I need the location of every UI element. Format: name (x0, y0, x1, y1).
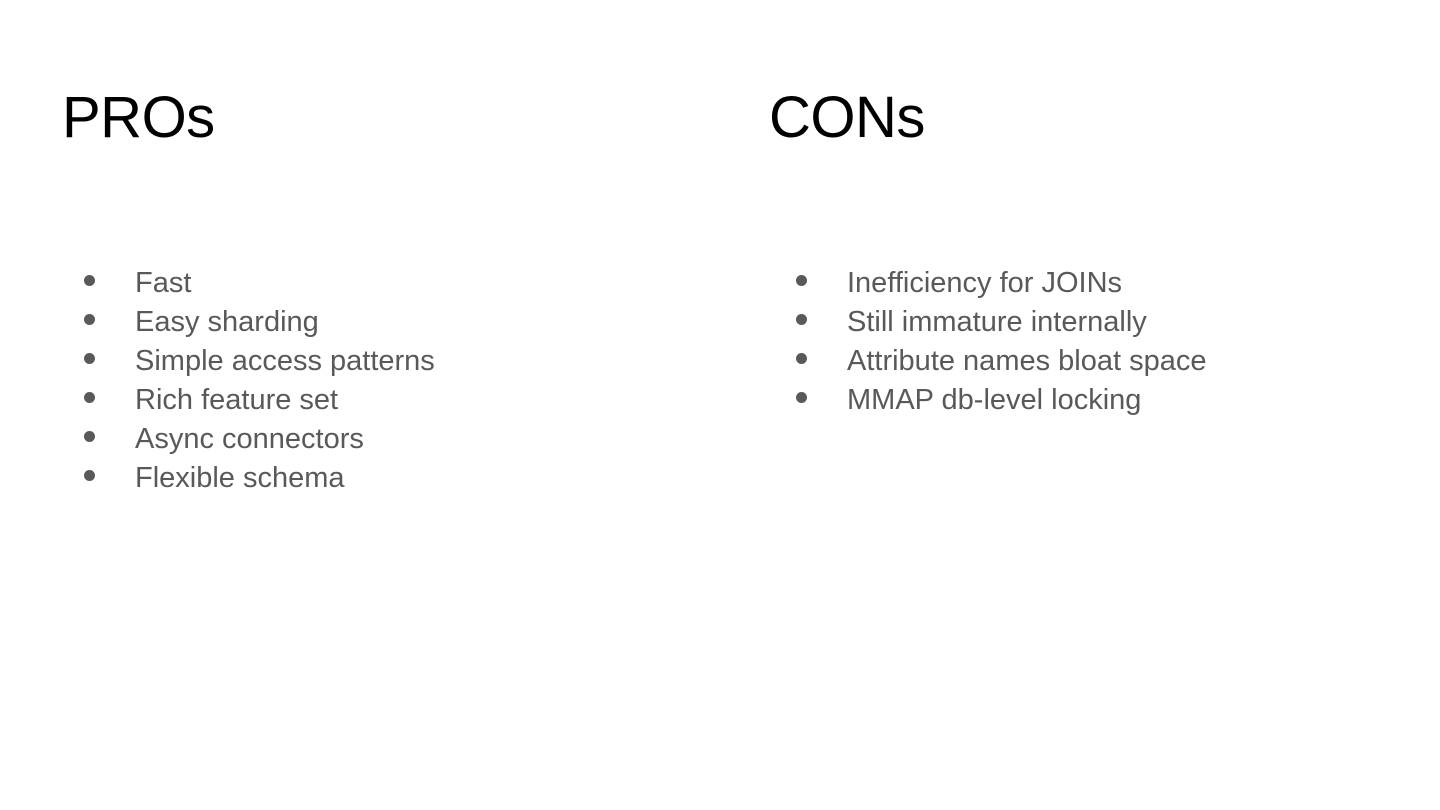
list-item-label: Async connectors (135, 420, 364, 459)
pros-bullet-list: Fast Easy sharding Simple access pattern… (84, 264, 435, 498)
cons-bullet-list: Inefficiency for JOINs Still immature in… (796, 264, 1206, 420)
bullet-dot-icon (84, 392, 95, 403)
list-item: MMAP db-level locking (796, 381, 1206, 420)
pros-column-title: PROs (62, 89, 215, 147)
list-item-label: Easy sharding (135, 303, 319, 342)
bullet-dot-icon (84, 470, 95, 481)
list-item-label: Attribute names bloat space (847, 342, 1206, 381)
list-item-label: Inefficiency for JOINs (847, 264, 1122, 303)
pros-column: PROs Fast Easy sharding Simple access pa… (0, 0, 720, 810)
list-item-label: MMAP db-level locking (847, 381, 1141, 420)
list-item: Simple access patterns (84, 342, 435, 381)
list-item-label: Fast (135, 264, 191, 303)
list-item: Rich feature set (84, 381, 435, 420)
bullet-dot-icon (84, 431, 95, 442)
bullet-dot-icon (796, 353, 807, 364)
list-item: Inefficiency for JOINs (796, 264, 1206, 303)
list-item: Attribute names bloat space (796, 342, 1206, 381)
bullet-dot-icon (796, 275, 807, 286)
list-item: Fast (84, 264, 435, 303)
bullet-dot-icon (84, 275, 95, 286)
list-item-label: Still immature internally (847, 303, 1147, 342)
slide-canvas: PROs Fast Easy sharding Simple access pa… (0, 0, 1440, 810)
list-item: Flexible schema (84, 459, 435, 498)
bullet-dot-icon (84, 314, 95, 325)
cons-column: CONs Inefficiency for JOINs Still immatu… (707, 0, 1440, 810)
cons-column-title: CONs (769, 89, 925, 147)
list-item: Async connectors (84, 420, 435, 459)
bullet-dot-icon (84, 353, 95, 364)
list-item: Still immature internally (796, 303, 1206, 342)
bullet-dot-icon (796, 314, 807, 325)
bullet-dot-icon (796, 392, 807, 403)
list-item-label: Simple access patterns (135, 342, 435, 381)
list-item-label: Rich feature set (135, 381, 338, 420)
list-item: Easy sharding (84, 303, 435, 342)
list-item-label: Flexible schema (135, 459, 345, 498)
